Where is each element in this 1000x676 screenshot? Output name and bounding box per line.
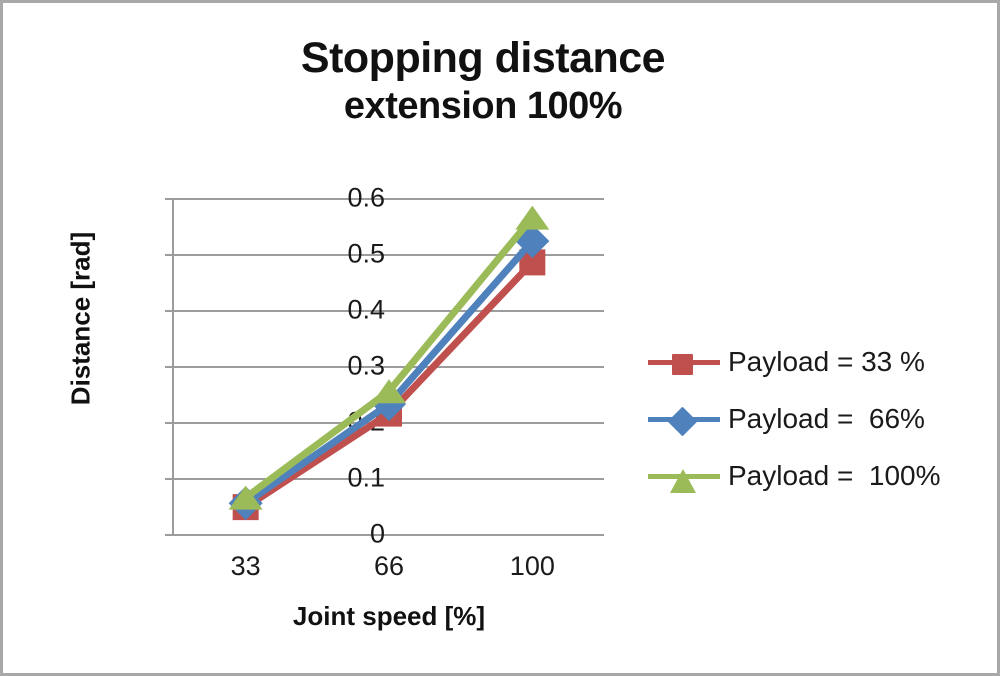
y-axis-tick-label: 0.5 xyxy=(265,239,385,270)
legend-swatch xyxy=(648,347,720,377)
gridline xyxy=(174,366,604,368)
legend-label: Payload = 100% xyxy=(720,460,941,492)
y-axis-tick-label: 0.2 xyxy=(265,407,385,438)
y-axis-tick-label: 0.4 xyxy=(265,295,385,326)
y-axis-tick-label: 0.1 xyxy=(265,463,385,494)
chart-screenshot: Stopping distance extension 100% Distanc… xyxy=(0,0,1000,676)
chart-title: Stopping distance extension 100% xyxy=(3,33,963,129)
chart-legend: Payload = 33 %Payload = 66%Payload = 100… xyxy=(648,333,988,504)
y-axis-tick xyxy=(165,254,174,256)
gridline xyxy=(174,198,604,200)
x-axis-title: Joint speed [%] xyxy=(174,601,604,632)
x-axis-tick-label: 100 xyxy=(472,551,592,582)
y-axis-tick xyxy=(165,310,174,312)
legend-swatch xyxy=(648,461,720,491)
gridline xyxy=(174,478,604,480)
y-axis-tick-label: 0.3 xyxy=(265,351,385,382)
gridline xyxy=(174,422,604,424)
y-axis-tick xyxy=(165,422,174,424)
y-axis-title: Distance [rad] xyxy=(66,179,97,459)
y-axis-tick xyxy=(165,534,174,536)
legend-item[interactable]: Payload = 100% xyxy=(648,447,988,504)
y-axis-tick xyxy=(165,198,174,200)
plot-area xyxy=(174,198,604,534)
y-axis-tick xyxy=(165,478,174,480)
chart-title-line-2: extension 100% xyxy=(3,84,963,129)
gridline xyxy=(174,534,604,536)
legend-label: Payload = 33 % xyxy=(720,346,925,378)
y-axis-tick-label: 0 xyxy=(265,519,385,550)
legend-marker-triangle xyxy=(670,469,696,493)
legend-item[interactable]: Payload = 66% xyxy=(648,390,988,447)
legend-swatch xyxy=(648,404,720,434)
chart-container: Stopping distance extension 100% Distanc… xyxy=(3,3,997,673)
gridline xyxy=(174,254,604,256)
legend-item[interactable]: Payload = 33 % xyxy=(648,333,988,390)
legend-marker-diamond xyxy=(668,406,698,436)
y-axis-tick xyxy=(165,366,174,368)
legend-marker-square xyxy=(672,354,693,375)
x-axis-tick-label: 33 xyxy=(186,551,306,582)
legend-label: Payload = 66% xyxy=(720,403,925,435)
x-axis-tick-label: 66 xyxy=(329,551,449,582)
gridline xyxy=(174,310,604,312)
y-axis-tick-label: 0.6 xyxy=(265,183,385,214)
chart-title-line-1: Stopping distance xyxy=(301,34,665,82)
